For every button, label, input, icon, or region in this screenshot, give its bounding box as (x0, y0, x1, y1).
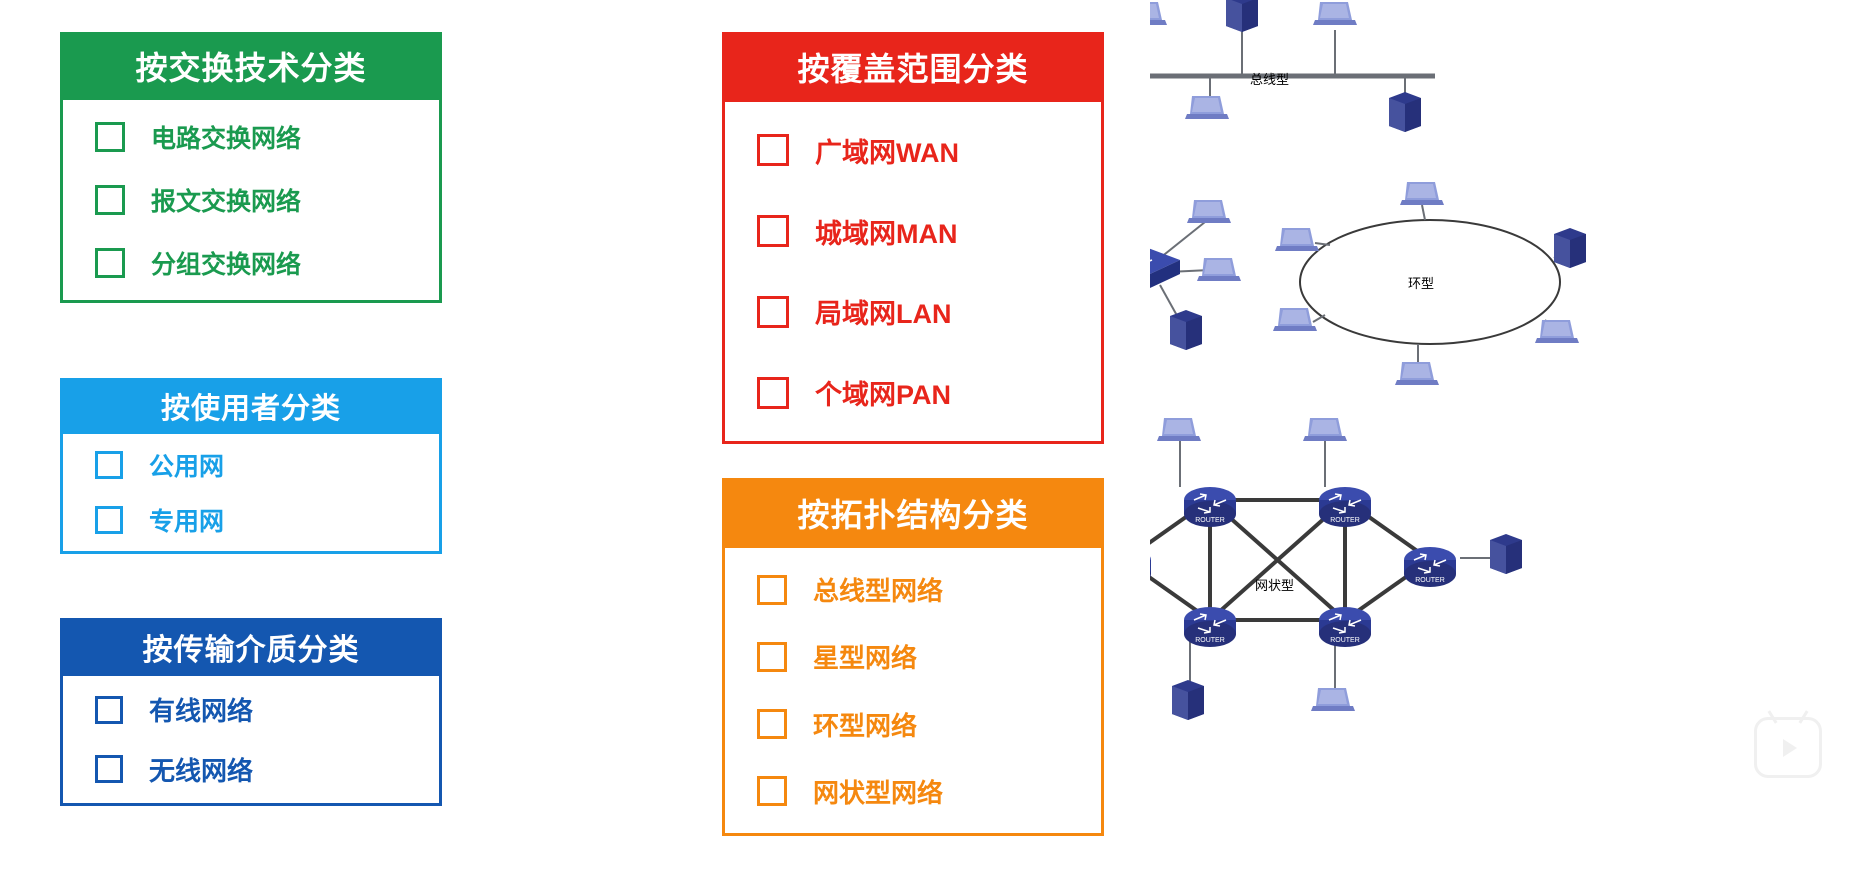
card-transmission-media-title: 按传输介质分类 (60, 618, 442, 676)
list-item-label: 分组交换网络 (151, 245, 301, 281)
list-item[interactable]: 有线网络 (95, 680, 439, 740)
list-item-label: 网状型网络 (813, 773, 943, 810)
list-item[interactable]: 局域网LAN (757, 272, 1101, 353)
list-item-label: 专用网 (149, 502, 224, 538)
mesh-topology-label: 网状型 (1255, 578, 1294, 593)
checkbox-icon[interactable] (95, 122, 125, 152)
list-item[interactable]: 环型网络 (757, 691, 1101, 758)
list-item[interactable]: 城域网MAN (757, 191, 1101, 272)
checkbox-icon[interactable] (95, 451, 123, 479)
list-item[interactable]: 无线网络 (95, 740, 439, 800)
router-caption: ROUTER (1330, 637, 1360, 644)
card-switching-technology-title: 按交换技术分类 (60, 32, 442, 100)
router-caption: ROUTER (1330, 517, 1360, 524)
checkbox-icon[interactable] (757, 215, 789, 247)
card-user-type-title: 按使用者分类 (60, 378, 442, 434)
list-item-label: 公用网 (149, 447, 224, 483)
card-topology-structure: 按拓扑结构分类 总线型网络 星型网络 环型网络 网状型网络 (722, 478, 1104, 836)
checkbox-icon[interactable] (95, 506, 123, 534)
ring-topology-label: 环型 (1408, 276, 1434, 291)
card-topology-structure-body: 总线型网络 星型网络 环型网络 网状型网络 (722, 548, 1104, 836)
list-item[interactable]: 专用网 (95, 493, 439, 548)
mesh-topology-diagram: ROUTER ROUTER ROUTER ROUTER ROUTER ROUTE… (1150, 418, 1522, 720)
card-coverage-scope: 按覆盖范围分类 广域网WAN 城域网MAN 局域网LAN 个域网PAN (722, 32, 1104, 444)
video-watermark-icon (1754, 717, 1822, 778)
card-topology-structure-title: 按拓扑结构分类 (722, 478, 1104, 548)
router-caption: ROUTER (1415, 577, 1445, 584)
list-item[interactable]: 广域网WAN (757, 110, 1101, 191)
list-item[interactable]: 电路交换网络 (95, 106, 439, 169)
router-caption: ROUTER (1195, 637, 1225, 644)
list-item[interactable]: 网状型网络 (757, 758, 1101, 825)
list-item-label: 城域网MAN (815, 212, 958, 251)
checkbox-icon[interactable] (757, 575, 787, 605)
card-user-type: 按使用者分类 公用网 专用网 (60, 378, 442, 554)
checkbox-icon[interactable] (757, 377, 789, 409)
card-user-type-body: 公用网 专用网 (60, 434, 442, 554)
checkbox-icon[interactable] (95, 755, 123, 783)
checkbox-icon[interactable] (757, 642, 787, 672)
list-item-label: 星型网络 (813, 638, 917, 675)
list-item-label: 广域网WAN (815, 131, 959, 170)
list-item[interactable]: 总线型网络 (757, 556, 1101, 623)
list-item-label: 局域网LAN (815, 292, 952, 331)
checkbox-icon[interactable] (757, 134, 789, 166)
list-item-label: 总线型网络 (813, 571, 943, 608)
list-item-label: 有线网络 (149, 691, 253, 728)
card-transmission-media: 按传输介质分类 有线网络 无线网络 (60, 618, 442, 806)
list-item-label: 无线网络 (149, 751, 253, 788)
card-switching-technology-body: 电路交换网络 报文交换网络 分组交换网络 (60, 100, 442, 303)
list-item[interactable]: 公用网 (95, 438, 439, 493)
ring-topology-diagram: 环型 (1273, 182, 1586, 385)
bus-topology-diagram: 总线型 (1150, 0, 1435, 132)
list-item-label: 报文交换网络 (151, 182, 301, 218)
checkbox-icon[interactable] (757, 709, 787, 739)
card-coverage-scope-body: 广域网WAN 城域网MAN 局域网LAN 个域网PAN (722, 102, 1104, 444)
list-item-label: 个域网PAN (815, 373, 951, 412)
checkbox-icon[interactable] (95, 248, 125, 278)
checkbox-icon[interactable] (95, 185, 125, 215)
topology-illustrations: 总线型 星型 (1150, 0, 1850, 864)
bus-topology-label: 总线型 (1250, 72, 1289, 87)
checkbox-icon[interactable] (757, 296, 789, 328)
card-coverage-scope-title: 按覆盖范围分类 (722, 32, 1104, 102)
list-item-label: 环型网络 (813, 706, 917, 743)
list-item[interactable]: 个域网PAN (757, 352, 1101, 433)
list-item-label: 电路交换网络 (151, 119, 301, 155)
card-transmission-media-body: 有线网络 无线网络 (60, 676, 442, 806)
router-caption: ROUTER (1195, 517, 1225, 524)
list-item[interactable]: 分组交换网络 (95, 231, 439, 294)
card-switching-technology: 按交换技术分类 电路交换网络 报文交换网络 分组交换网络 (60, 32, 442, 303)
list-item[interactable]: 星型网络 (757, 623, 1101, 690)
star-topology-diagram: 星型 (1150, 180, 1241, 361)
checkbox-icon[interactable] (95, 696, 123, 724)
list-item[interactable]: 报文交换网络 (95, 169, 439, 232)
checkbox-icon[interactable] (757, 776, 787, 806)
